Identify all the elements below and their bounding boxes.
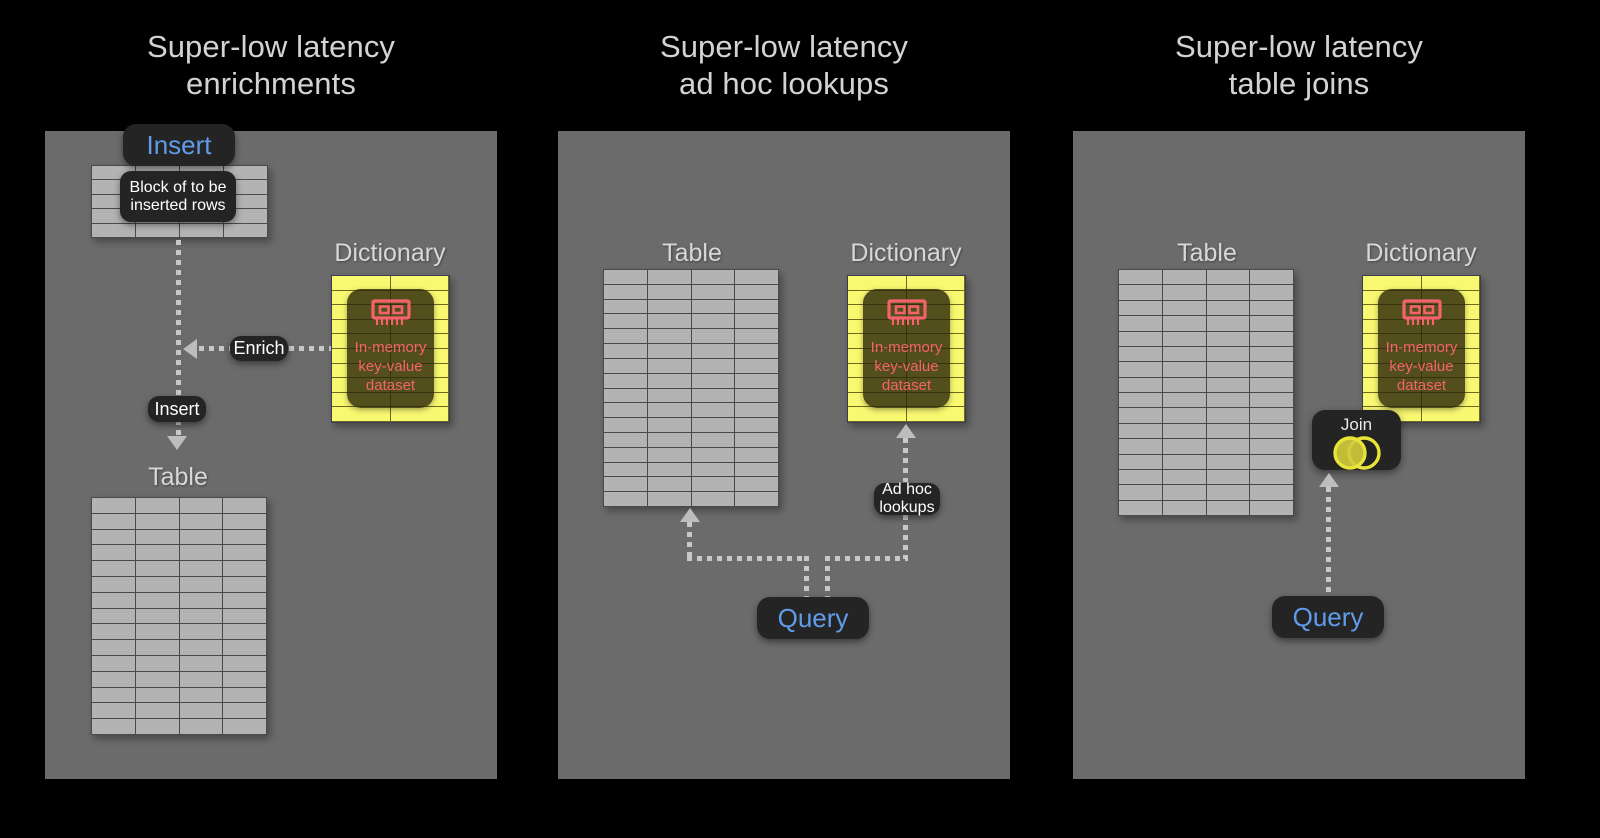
memory-card-1: In-memory key-value dataset: [347, 289, 434, 408]
query-pill-2[interactable]: Query: [757, 597, 869, 639]
table-caption-2: Table: [592, 239, 792, 268]
query-to-join-arrow: [1319, 473, 1339, 487]
table-grid-1: [91, 497, 267, 735]
memory-card-3: In-memory key-value dataset: [1378, 289, 1465, 408]
ram-memory-icon: [370, 298, 412, 333]
memory-card-text-2: In-memory key-value dataset: [871, 338, 943, 395]
block-rows-pill[interactable]: Block of to be inserted rows: [120, 171, 236, 222]
table-caption-3: Table: [1107, 239, 1307, 268]
query-to-table-line-v: [687, 522, 692, 559]
insert-pill[interactable]: Insert: [148, 396, 206, 422]
diagram-canvas: Super-low latency enrichments Insert Blo…: [0, 0, 1600, 838]
panel-title-ad-hoc-lookups: Super-low latency ad hoc lookups: [558, 28, 1010, 102]
query-branch-left-line: [804, 556, 809, 598]
query-to-table-arrow: [680, 508, 700, 522]
dictionary-caption-1: Dictionary: [290, 239, 490, 268]
memory-card-text-1: In-memory key-value dataset: [355, 338, 427, 395]
enrich-pill[interactable]: Enrich: [230, 336, 288, 361]
join-pill-label: Join: [1341, 415, 1372, 434]
dictionary-caption-3: Dictionary: [1321, 239, 1521, 268]
lookup-line-upper: [903, 438, 908, 482]
query-to-join-line: [1326, 487, 1331, 594]
ram-memory-icon: [886, 298, 928, 333]
insert-top-pill[interactable]: Insert: [123, 124, 235, 166]
query-branch-right-line: [825, 556, 830, 598]
table-grid-2: [603, 269, 779, 507]
panel-title-enrichments: Super-low latency enrichments: [45, 28, 497, 102]
lookup-line-lower: [903, 515, 908, 559]
venn-join-icon: [1326, 435, 1388, 476]
ad-hoc-lookups-pill[interactable]: Ad hoc lookups: [874, 483, 940, 515]
table-caption-1: Table: [78, 463, 278, 492]
query-to-table-line-h: [687, 556, 809, 561]
query-to-lookup-line-h: [825, 556, 908, 561]
join-pill[interactable]: Join: [1312, 410, 1401, 470]
memory-card-text-3: In-memory key-value dataset: [1386, 338, 1458, 395]
panel-title-table-joins: Super-low latency table joins: [1073, 28, 1525, 102]
query-pill-3[interactable]: Query: [1272, 596, 1384, 638]
dictionary-caption-2: Dictionary: [806, 239, 1006, 268]
ram-memory-icon: [1401, 298, 1443, 333]
enrich-flow-arrow: [183, 339, 197, 359]
table-grid-3: [1118, 269, 1294, 516]
insert-flow-arrow: [167, 436, 187, 450]
lookup-to-dictionary-arrow: [896, 424, 916, 438]
memory-card-2: In-memory key-value dataset: [863, 289, 950, 408]
